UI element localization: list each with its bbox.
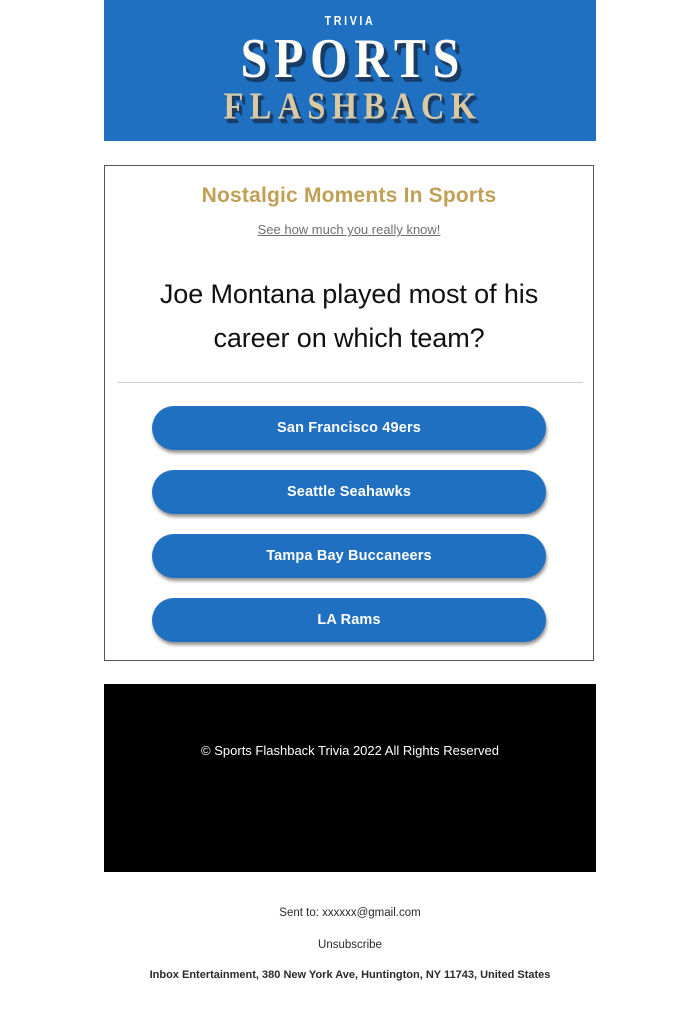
question-text: Joe Montana played most of his career on… bbox=[105, 237, 593, 360]
answer-option-2[interactable]: Seattle Seahawks bbox=[152, 470, 546, 514]
sent-to-text: Sent to: xxxxxx@gmail.com bbox=[0, 908, 700, 940]
answer-option-4[interactable]: LA Rams bbox=[152, 598, 546, 642]
card-divider bbox=[117, 382, 583, 383]
copyright-text: © Sports Flashback Trivia 2022 All Right… bbox=[104, 684, 596, 758]
unsubscribe-link[interactable]: Unsubscribe bbox=[0, 940, 700, 971]
answer-option-1[interactable]: San Francisco 49ers bbox=[152, 406, 546, 450]
brand-wordmark: TRIVIA SPORTS FLASHBACK bbox=[104, 14, 596, 125]
legal-section: Sent to: xxxxxx@gmail.com Unsubscribe In… bbox=[0, 908, 700, 981]
quiz-card: Nostalgic Moments In Sports See how much… bbox=[104, 165, 594, 661]
brand-wordmark-flashback: FLASHBACK bbox=[109, 87, 591, 127]
answer-list: San Francisco 49ers Seattle Seahawks Tam… bbox=[105, 406, 593, 642]
card-subtitle-link[interactable]: See how much you really know! bbox=[105, 208, 593, 237]
company-address: Inbox Entertainment, 380 New York Ave, H… bbox=[0, 970, 700, 981]
answer-option-3[interactable]: Tampa Bay Buccaneers bbox=[152, 534, 546, 578]
email-page: TRIVIA SPORTS FLASHBACK Nostalgic Moment… bbox=[0, 0, 700, 1027]
footer-block: © Sports Flashback Trivia 2022 All Right… bbox=[104, 684, 596, 872]
brand-kicker: TRIVIA bbox=[148, 14, 551, 27]
header-banner: TRIVIA SPORTS FLASHBACK bbox=[104, 0, 596, 141]
card-title: Nostalgic Moments In Sports bbox=[105, 166, 593, 208]
brand-wordmark-sports: SPORTS bbox=[114, 30, 586, 87]
